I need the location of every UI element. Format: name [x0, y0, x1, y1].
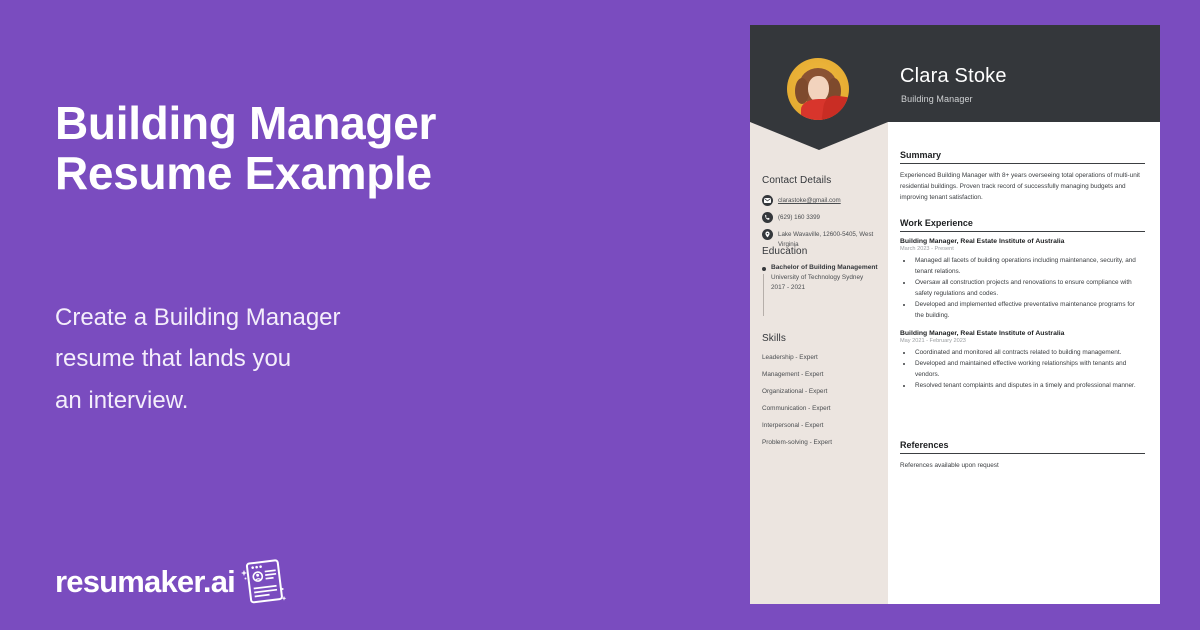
experience-dates: March 2023 - Present: [900, 246, 1145, 252]
contact-details-heading: Contact Details: [762, 175, 882, 186]
contact-email-text: clarastoke@gmail.com: [778, 195, 841, 206]
bullet-icon: [762, 267, 766, 271]
work-experience-heading: Work Experience: [900, 218, 1145, 232]
skill-item: Organizational - Expert: [762, 388, 882, 395]
skill-item: Communication - Expert: [762, 405, 882, 412]
education-dates: 2017 - 2021: [771, 283, 878, 293]
education-item: Bachelor of Building Management Universi…: [762, 263, 882, 293]
references-text: References available upon request: [900, 460, 1145, 471]
envelope-icon: [762, 195, 773, 206]
promo-subtitle: Create a Building Manager resume that la…: [55, 297, 475, 421]
experience-bullet: Coordinated and monitored all contracts …: [913, 347, 1145, 358]
work-experience-section: Work Experience Building Manager, Real E…: [900, 218, 1145, 400]
avatar: [787, 58, 849, 120]
education-degree: Bachelor of Building Management: [771, 263, 878, 273]
resume-job-title: Building Manager: [901, 94, 973, 104]
experience-bullets: Coordinated and monitored all contracts …: [913, 347, 1145, 391]
education-section: Education Bachelor of Building Managemen…: [762, 246, 882, 293]
references-section: References References available upon req…: [900, 440, 1145, 471]
experience-title: Building Manager, Real Estate Institute …: [900, 238, 1145, 245]
skill-item: Problem-solving - Expert: [762, 439, 882, 446]
references-heading: References: [900, 440, 1145, 454]
page-title: Building Manager Resume Example: [55, 98, 575, 198]
contact-item-email[interactable]: clarastoke@gmail.com: [762, 195, 882, 206]
experience-bullet: Developed and maintained effective worki…: [913, 358, 1145, 380]
resume-name: Clara Stoke: [900, 65, 1007, 88]
contact-details-section: Contact Details clarastoke@gmail.com (62…: [762, 175, 882, 255]
experience-dates: May 2021 - February 2023: [900, 338, 1145, 344]
contact-item-phone[interactable]: (629) 160 3399: [762, 212, 882, 223]
experience-bullet: Developed and implemented effective prev…: [913, 299, 1145, 321]
skill-item: Leadership - Expert: [762, 354, 882, 361]
promo-panel: Building Manager Resume Example Create a…: [0, 0, 750, 630]
summary-text: Experienced Building Manager with 8+ yea…: [900, 170, 1145, 203]
skills-heading: Skills: [762, 333, 882, 344]
experience-bullet: Managed all facets of building operation…: [913, 255, 1145, 277]
experience-item: Building Manager, Real Estate Institute …: [900, 330, 1145, 391]
location-pin-icon: [762, 229, 773, 240]
contact-phone-text: (629) 160 3399: [778, 212, 820, 223]
skill-item: Management - Expert: [762, 371, 882, 378]
logo-wordmark: resumaker.ai: [55, 564, 235, 600]
phone-icon: [762, 212, 773, 223]
summary-section: Summary Experienced Building Manager wit…: [900, 150, 1145, 203]
skills-section: Skills Leadership - Expert Management - …: [762, 333, 882, 446]
education-heading: Education: [762, 246, 882, 257]
experience-title: Building Manager, Real Estate Institute …: [900, 330, 1145, 337]
resumaker-logo[interactable]: resumaker.ai: [55, 556, 289, 608]
experience-bullet: Resolved tenant complaints and disputes …: [913, 380, 1145, 391]
resume-document-icon: [237, 556, 289, 608]
resume-preview-card[interactable]: Clara Stoke Building Manager Contact Det…: [750, 25, 1160, 604]
experience-item: Building Manager, Real Estate Institute …: [900, 238, 1145, 321]
summary-heading: Summary: [900, 150, 1145, 164]
education-school: University of Technology Sydney: [771, 273, 878, 283]
skill-item: Interpersonal - Expert: [762, 422, 882, 429]
experience-bullet: Oversaw all construction projects and re…: [913, 277, 1145, 299]
experience-bullets: Managed all facets of building operation…: [913, 255, 1145, 321]
